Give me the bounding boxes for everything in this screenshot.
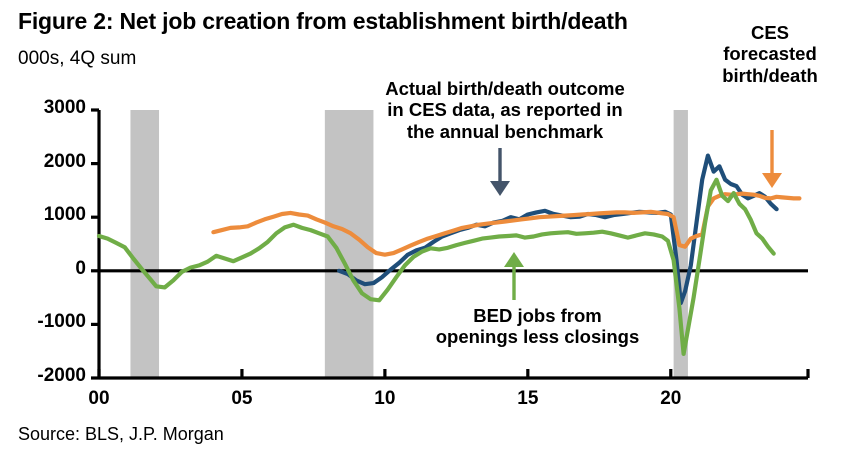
annotation-ces-line-2: forecasted: [700, 43, 840, 64]
annotation-ces-line-1: CES: [700, 22, 840, 43]
x-tick-label-00: 00: [69, 388, 129, 410]
y-tick-label-3000: 3000: [0, 97, 86, 119]
arrow-ces-head: [762, 173, 782, 188]
y-tick-label--1000: -1000: [0, 311, 86, 333]
annotation-actual-birth-death: Actual birth/death outcomein CES data, a…: [355, 78, 655, 142]
annotation-actual-line-3: the annual benchmark: [355, 121, 655, 142]
series-line-ces-forecast: [213, 194, 799, 255]
x-tick-label-15: 15: [498, 388, 558, 410]
annotation-actual-line-2: in CES data, as reported in: [355, 99, 655, 120]
annotation-bed-jobs: BED jobs fromopenings less closings: [400, 305, 675, 348]
x-tick-label-10: 10: [355, 388, 415, 410]
arrow-actual-head: [490, 181, 510, 196]
annotation-bed-line-2: openings less closings: [400, 326, 675, 347]
annotation-actual-line-1: Actual birth/death outcome: [355, 78, 655, 99]
figure-source: Source: BLS, J.P. Morgan: [18, 424, 224, 445]
y-tick-label-1000: 1000: [0, 204, 86, 226]
annotation-bed-line-1: BED jobs from: [400, 305, 675, 326]
figure-container: Figure 2: Net job creation from establis…: [0, 0, 852, 459]
series-line-ces-actual-benchmark: [339, 156, 776, 303]
x-tick-label-20: 20: [641, 388, 701, 410]
recession-band-recession-2001: [130, 110, 159, 378]
y-tick-label--2000: -2000: [0, 365, 86, 387]
arrow-bed-head: [504, 252, 524, 267]
annotation-ces-forecast: CESforecastedbirth/death: [700, 22, 840, 86]
x-tick-label-05: 05: [212, 388, 272, 410]
annotation-ces-line-3: birth/death: [700, 65, 840, 86]
y-tick-label-0: 0: [0, 258, 86, 280]
y-tick-label-2000: 2000: [0, 151, 86, 173]
